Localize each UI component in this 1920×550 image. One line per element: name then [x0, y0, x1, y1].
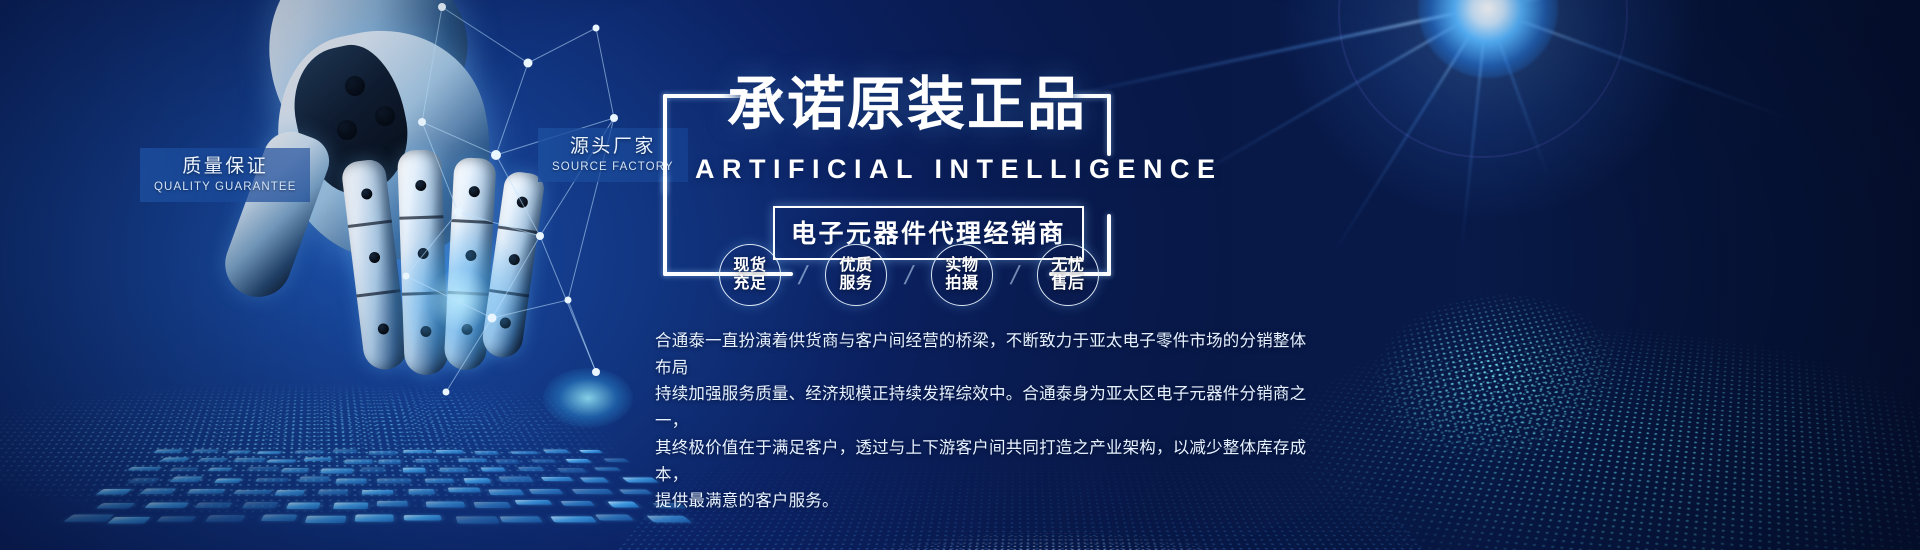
tag-quality-guarantee: 质量保证 QUALITY GUARANTEE	[140, 148, 310, 202]
tag-source-en: SOURCE FACTORY	[552, 161, 674, 173]
description-line-1: 合通泰一直扮演着供货商与客户间经营的桥梁，不断致力于亚太电子零件市场的分销整体布…	[655, 328, 1315, 381]
tag-quality-cn: 质量保证	[154, 155, 296, 179]
promo-banner: 质量保证 QUALITY GUARANTEE 源头厂家 SOURCE FACTO…	[0, 0, 1920, 550]
badge-separator: /	[778, 260, 829, 291]
description-line-4: 提供最满意的客户服务。	[655, 488, 1315, 515]
tag-source-factory: 源头厂家 SOURCE FACTORY	[538, 128, 688, 182]
feature-badge-row: 现货 充足 / 优质 服务 / 实物 拍摄 / 无忧 售后	[719, 244, 1099, 306]
badge-worry-free-aftersales[interactable]: 无忧 售后	[1037, 244, 1099, 306]
page-title: 承诺原装正品	[727, 76, 1087, 134]
badge-separator: /	[990, 260, 1041, 291]
badge-stock-sufficient[interactable]: 现货 充足	[719, 244, 781, 306]
badge-line1: 现货	[733, 257, 766, 275]
headline-subtitle-en: ARTIFICIAL INTELLIGENCE	[695, 154, 1223, 185]
badge-line2: 充足	[733, 275, 766, 293]
badge-line1: 实物	[945, 257, 978, 275]
description-paragraph: 合通泰一直扮演着供货商与客户间经营的桥梁，不断致力于亚太电子零件市场的分销整体布…	[655, 328, 1315, 515]
badge-line1: 优质	[839, 257, 872, 275]
badge-line1: 无忧	[1051, 257, 1084, 275]
badge-line2: 服务	[839, 275, 872, 293]
badge-line2: 售后	[1051, 275, 1084, 293]
description-line-3: 其终极价值在于满足客户，透过与上下游客户间共同打造之产业架构，以减少整体库存成本…	[655, 435, 1315, 488]
description-line-2: 持续加强服务质量、经济规模正持续发挥综效中。合通泰身为亚太区电子元器件分销商之一…	[655, 381, 1315, 434]
badge-separator: /	[884, 260, 935, 291]
tag-quality-en: QUALITY GUARANTEE	[154, 181, 296, 193]
tag-source-cn: 源头厂家	[552, 135, 674, 159]
badge-real-photo[interactable]: 实物 拍摄	[931, 244, 993, 306]
badge-quality-service[interactable]: 优质 服务	[825, 244, 887, 306]
badge-line2: 拍摄	[945, 275, 978, 293]
